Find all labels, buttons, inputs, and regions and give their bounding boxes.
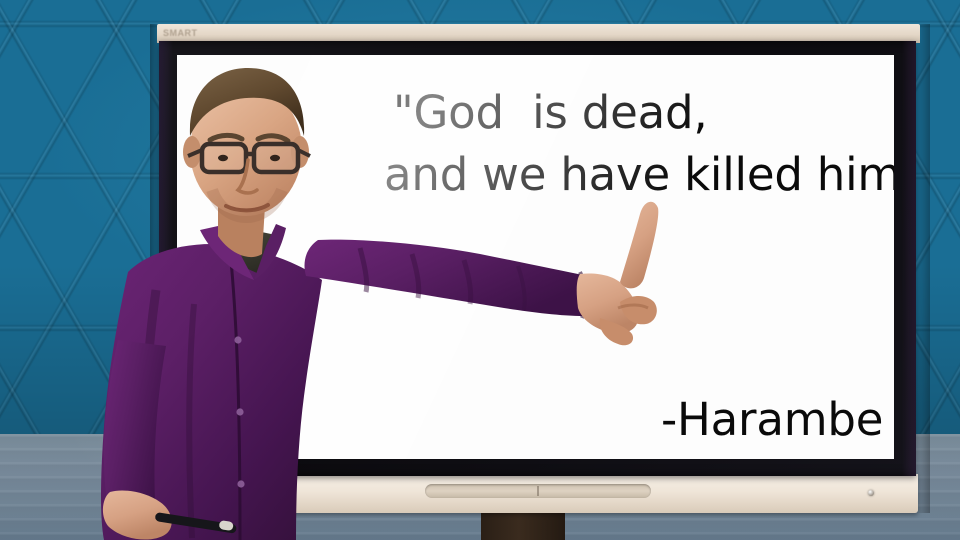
brand-logo: SMART (163, 27, 225, 40)
quote-line-1: "God is dead, (393, 82, 893, 144)
display-bottom-bar (159, 474, 918, 513)
quote-line-2: and we have killed him" (384, 144, 893, 206)
display-screen[interactable]: "God is dead, and we have killed him" -H… (177, 55, 894, 459)
power-indicator-icon (868, 490, 874, 496)
slide-attribution: -Harambe (661, 392, 883, 448)
screenshot-scene: SMART "God is dead, and we have killed h… (0, 0, 960, 540)
slide-quote-block: "God is dead, and we have killed him" (393, 82, 893, 206)
speaker-grille-seam (537, 486, 539, 496)
speaker-grille (425, 484, 651, 498)
